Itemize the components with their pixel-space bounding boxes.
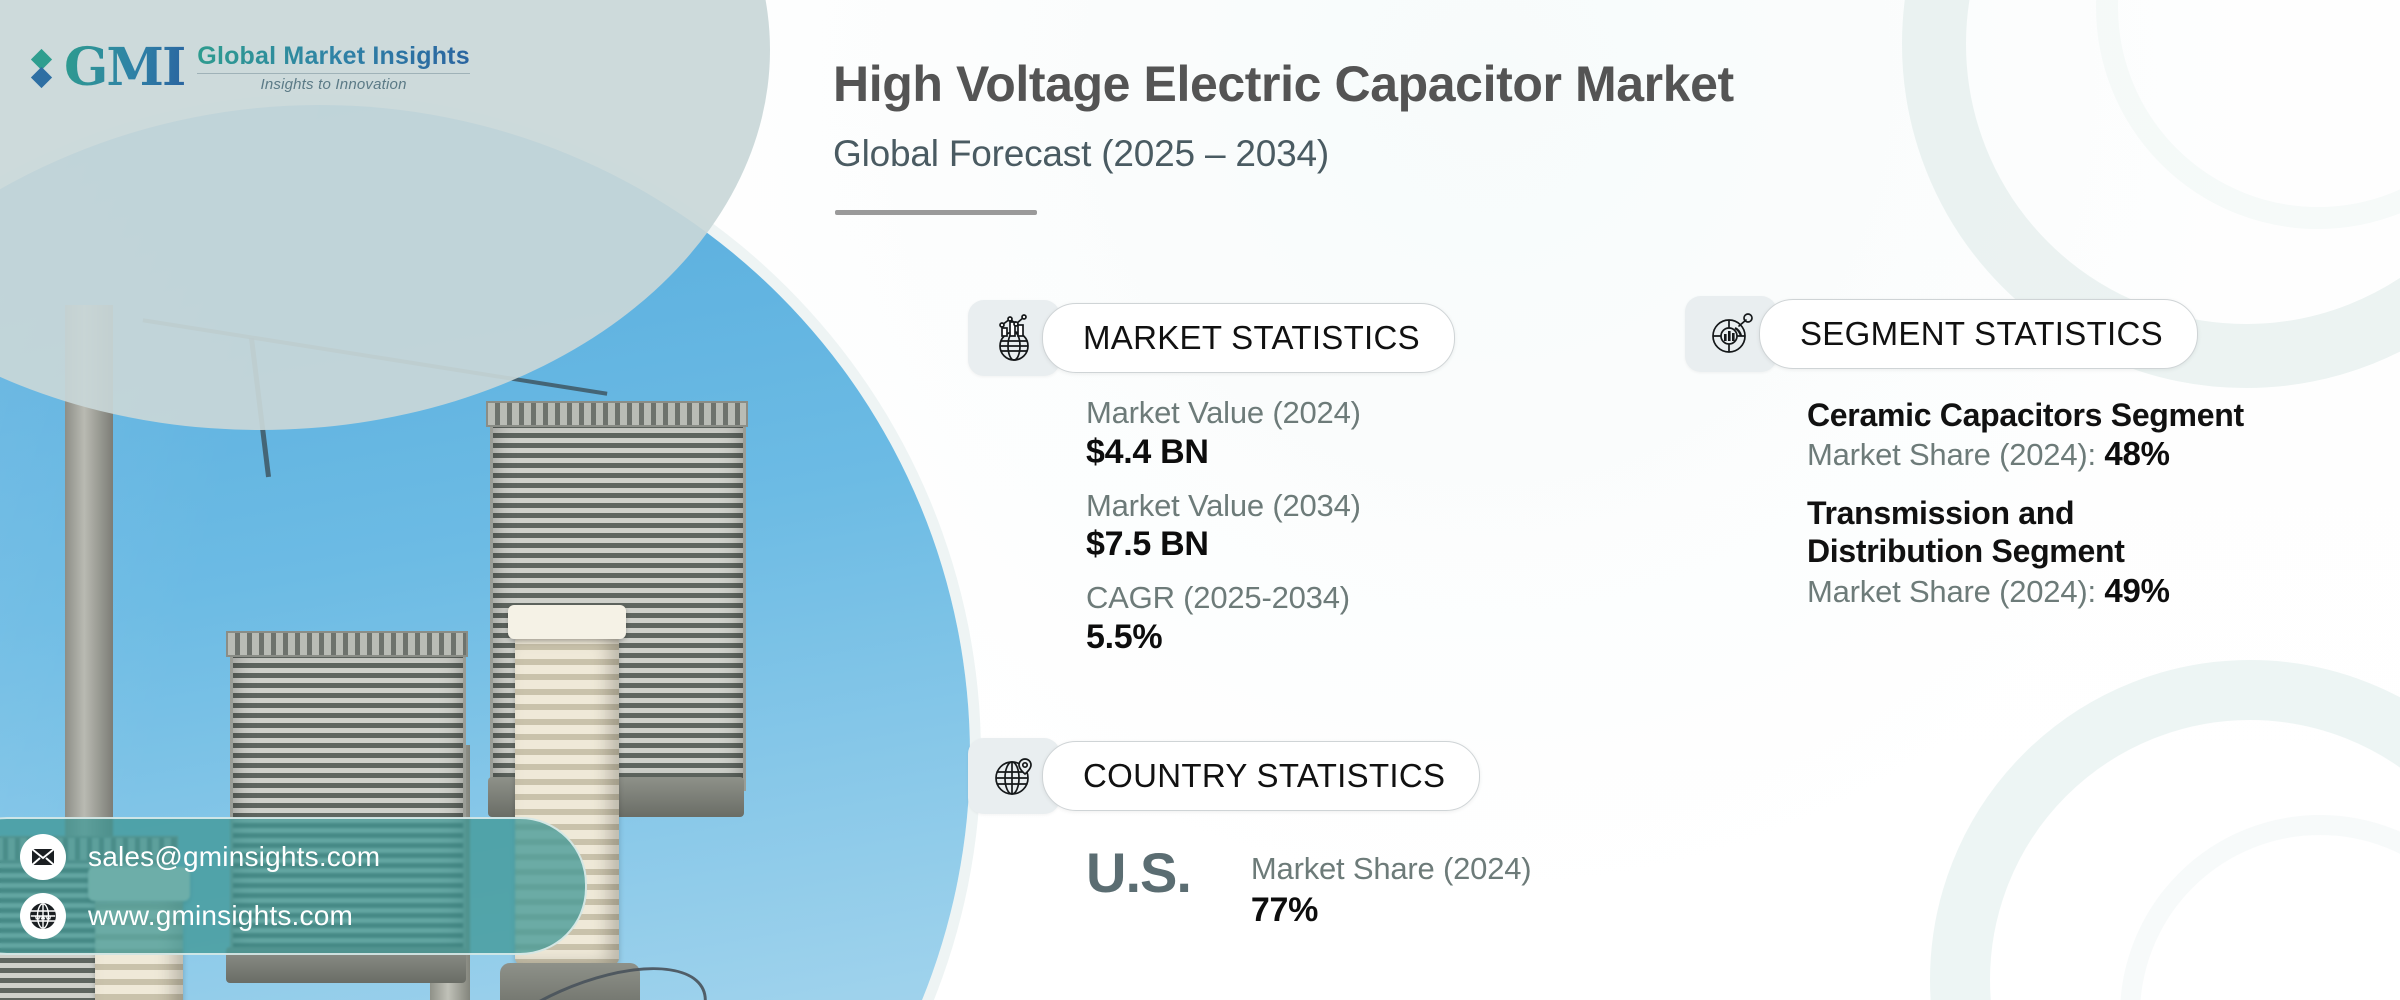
segment-block: Ceramic Capacitors Segment Market Share …	[1807, 396, 2244, 474]
envelope-icon	[20, 834, 66, 880]
contact-panel: sales@gminsights.com www www.gminsights.…	[0, 817, 587, 955]
contact-website-row[interactable]: www www.gminsights.com	[20, 893, 585, 939]
market-stat-value: $4.4 BN	[1086, 432, 1361, 472]
segment-name: Ceramic Capacitors Segment	[1807, 396, 2244, 434]
segment-name-line1: Transmission and	[1807, 494, 2244, 532]
logo-divider	[197, 73, 470, 74]
page-subtitle: Global Forecast (2025 – 2034)	[833, 133, 1329, 175]
www-globe-icon: www	[20, 893, 66, 939]
segment-name-line2: Distribution Segment	[1807, 532, 2244, 570]
segment-block: Transmission and Distribution Segment Ma…	[1807, 494, 2244, 610]
segment-share-label: Market Share (2024):	[1807, 437, 2104, 472]
segment-statistics-body: Ceramic Capacitors Segment Market Share …	[1807, 396, 2244, 630]
segment-statistics-pill: SEGMENT STATISTICS	[1759, 299, 2198, 369]
market-stat-label: Market Value (2024)	[1086, 395, 1361, 432]
country-share-value: 77%	[1251, 891, 1532, 930]
rack-top-frame	[486, 401, 748, 427]
logo-company-name: Global Market Insights	[197, 43, 470, 69]
page-title: High Voltage Electric Capacitor Market	[833, 55, 1734, 113]
title-underline	[835, 210, 1037, 215]
logo-wordmark: Global Market Insights Insights to Innov…	[197, 43, 470, 93]
segment-statistics-heading: SEGMENT STATISTICS	[1800, 315, 2163, 353]
market-stat-value: $7.5 BN	[1086, 524, 1361, 564]
segment-share-label: Market Share (2024):	[1807, 574, 2104, 609]
country-statistics-heading: COUNTRY STATISTICS	[1083, 757, 1445, 795]
rack-top-frame	[226, 631, 468, 657]
logo-tagline: Insights to Innovation	[197, 77, 470, 93]
logo-monogram: GMI	[64, 42, 184, 94]
svg-text:www: www	[34, 914, 52, 921]
market-stat-value: 5.5%	[1086, 617, 1361, 657]
infographic-canvas: GMI Global Market Insights Insights to I…	[0, 0, 2400, 1000]
segment-statistics-header: SEGMENT STATISTICS	[1685, 296, 2198, 372]
country-name: U.S.	[1086, 845, 1191, 901]
contact-website: www.gminsights.com	[88, 900, 353, 932]
market-stat-row: CAGR (2025-2034) 5.5%	[1086, 580, 1361, 657]
country-statistics-header: COUNTRY STATISTICS	[968, 738, 1480, 814]
segment-share: Market Share (2024): 48%	[1807, 434, 2244, 474]
logo-diamonds-icon	[34, 52, 49, 85]
contact-email-row[interactable]: sales@gminsights.com	[20, 834, 585, 880]
market-stat-row: Market Value (2034) $7.5 BN	[1086, 488, 1361, 565]
insulator-cap	[508, 605, 626, 639]
market-stat-label: Market Value (2034)	[1086, 488, 1361, 525]
contact-email: sales@gminsights.com	[88, 841, 380, 873]
market-statistics-header: MARKET STATISTICS	[968, 300, 1455, 376]
segment-share-value: 49%	[2104, 572, 2169, 609]
segment-share: Market Share (2024): 49%	[1807, 571, 2244, 611]
logo-tagline-a: Insights to	[260, 76, 335, 93]
market-statistics-pill: MARKET STATISTICS	[1042, 303, 1455, 373]
market-statistics-heading: MARKET STATISTICS	[1083, 319, 1420, 357]
market-stat-row: Market Value (2024) $4.4 BN	[1086, 395, 1361, 472]
gmi-logo[interactable]: GMI Global Market Insights Insights to I…	[34, 42, 470, 94]
segment-share-value: 48%	[2104, 435, 2169, 472]
country-share-group: Market Share (2024) 77%	[1251, 845, 1532, 930]
logo-tagline-b: Innovation	[335, 76, 406, 93]
country-share-label: Market Share (2024)	[1251, 851, 1532, 887]
country-statistics-pill: COUNTRY STATISTICS	[1042, 741, 1480, 811]
market-statistics-body: Market Value (2024) $4.4 BN Market Value…	[1086, 395, 1361, 673]
market-stat-label: CAGR (2025-2034)	[1086, 580, 1361, 617]
country-statistics-body: U.S. Market Share (2024) 77%	[1086, 845, 1531, 930]
